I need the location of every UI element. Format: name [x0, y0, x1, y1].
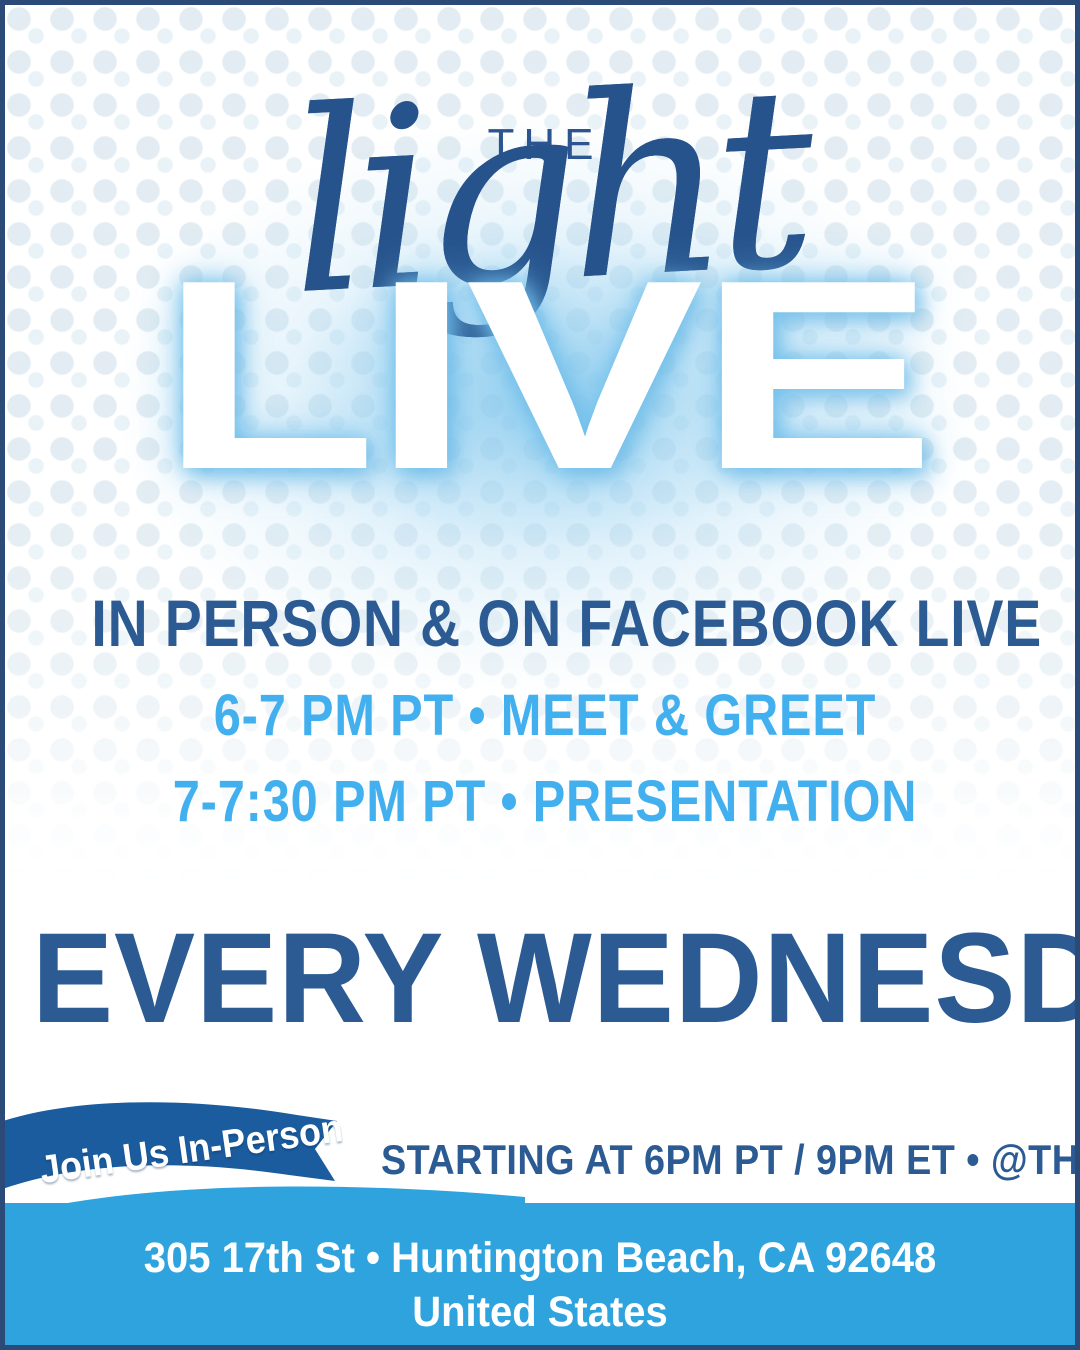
logo-live-text: LIVE [0, 241, 1080, 511]
event-info-block: IN PERSON & ON FACEBOOK LIVE 6-7 PM PT •… [5, 587, 1080, 845]
address-line-1: 305 17th St • Huntington Beach, CA 92648 [42, 1231, 1037, 1285]
address-text: 305 17th St • Huntington Beach, CA 92648… [42, 1231, 1037, 1339]
headline-text: IN PERSON & ON FACEBOOK LIVE [91, 587, 998, 659]
recurrence-text: EVERY WEDNESDAY [32, 913, 1058, 1045]
flyer-poster: THE light LIVE IN PERSON & ON FACEBOOK L… [0, 0, 1080, 1350]
time-line-meet-greet: 6-7 PM PT • MEET & GREET [91, 673, 998, 759]
time-line-presentation: 7-7:30 PM PT • PRESENTATION [91, 759, 998, 845]
band-wave-shape [5, 1177, 525, 1217]
band-wave-svg [5, 1177, 525, 1217]
address-line-2: United States [42, 1285, 1037, 1339]
address-band: 305 17th St • Huntington Beach, CA 92648… [5, 1203, 1075, 1350]
logo-lockup: THE light LIVE [5, 5, 1080, 525]
